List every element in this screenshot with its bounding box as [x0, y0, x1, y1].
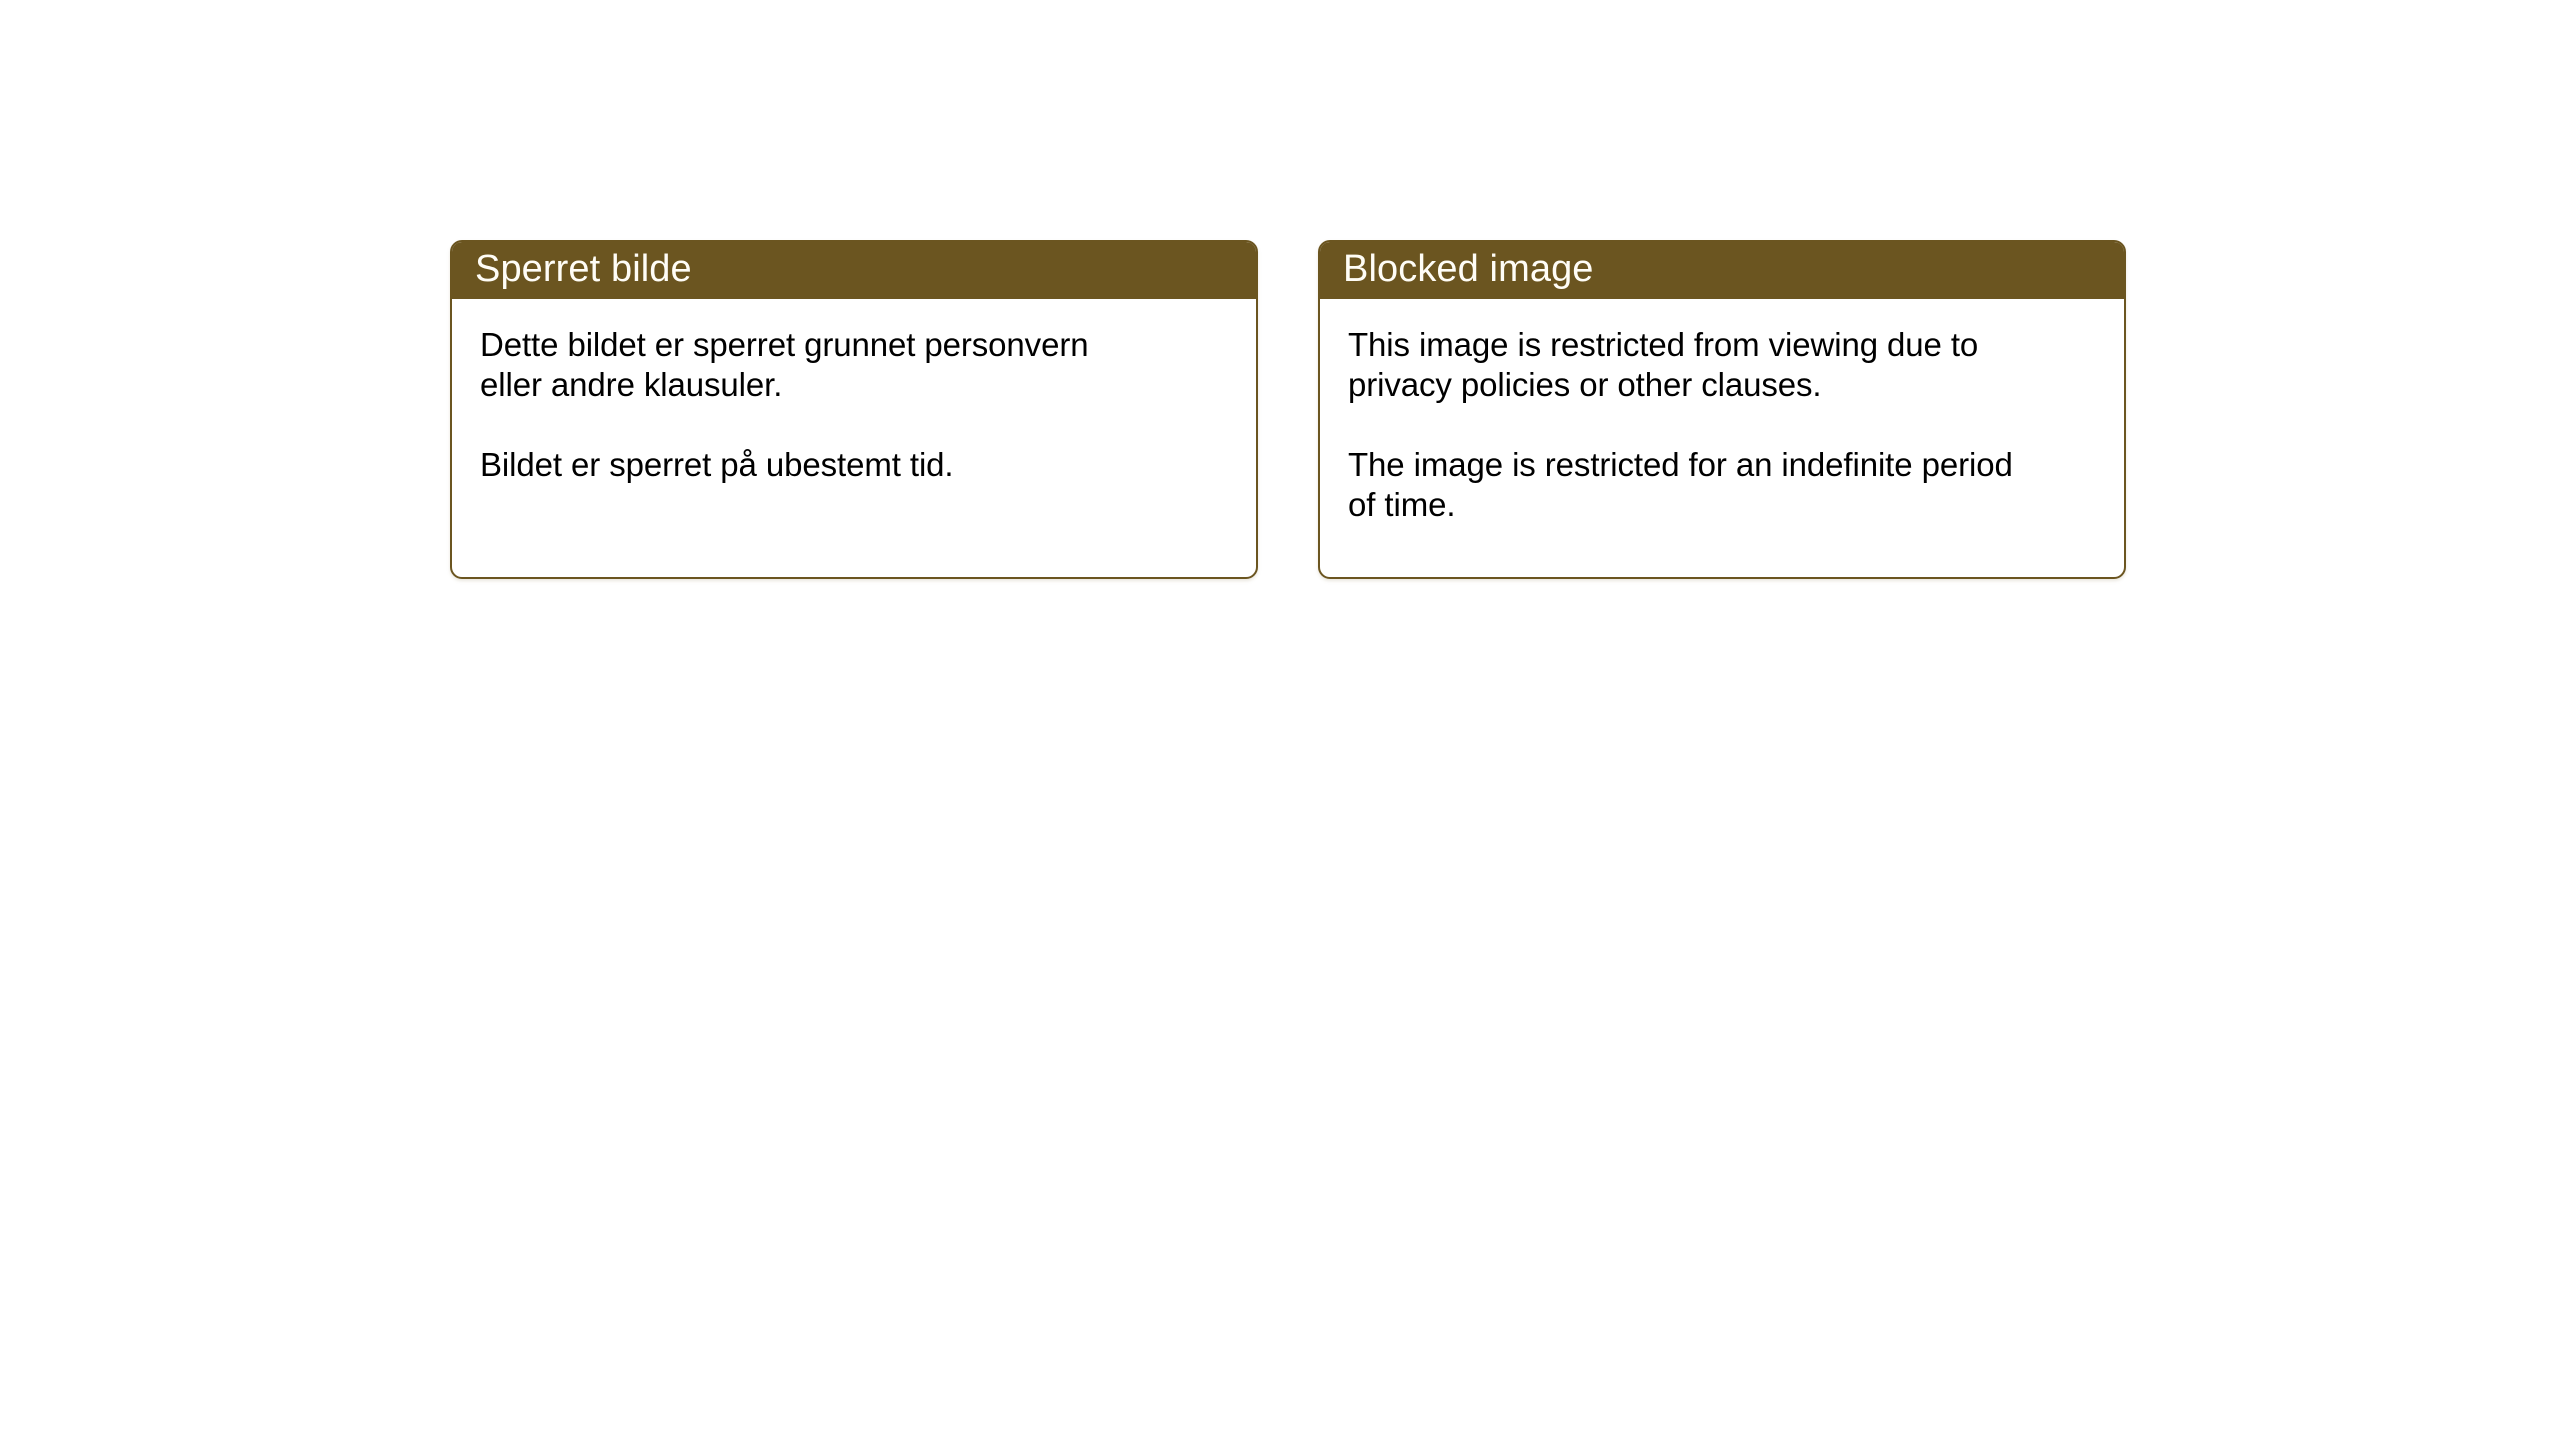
- card-paragraph-secondary-norwegian: Bildet er sperret på ubestemt tid.: [480, 445, 1120, 485]
- blocked-image-card-english: Blocked image This image is restricted f…: [1318, 240, 2126, 579]
- card-title-english: Blocked image: [1343, 249, 1594, 291]
- card-paragraph-secondary-english: The image is restricted for an indefinit…: [1348, 445, 2048, 525]
- card-body-english: This image is restricted from viewing du…: [1320, 299, 2124, 577]
- card-paragraph-primary-norwegian: Dette bildet er sperret grunnet personve…: [480, 325, 1120, 405]
- card-title-norwegian: Sperret bilde: [475, 249, 692, 291]
- blocked-image-notice-board: Sperret bilde Dette bildet er sperret gr…: [450, 240, 2126, 579]
- blocked-image-card-norwegian: Sperret bilde Dette bildet er sperret gr…: [450, 240, 1258, 579]
- card-body-norwegian: Dette bildet er sperret grunnet personve…: [452, 299, 1256, 577]
- card-header-norwegian: Sperret bilde: [451, 241, 1257, 299]
- card-paragraph-primary-english: This image is restricted from viewing du…: [1348, 325, 2048, 405]
- card-header-english: Blocked image: [1319, 241, 2125, 299]
